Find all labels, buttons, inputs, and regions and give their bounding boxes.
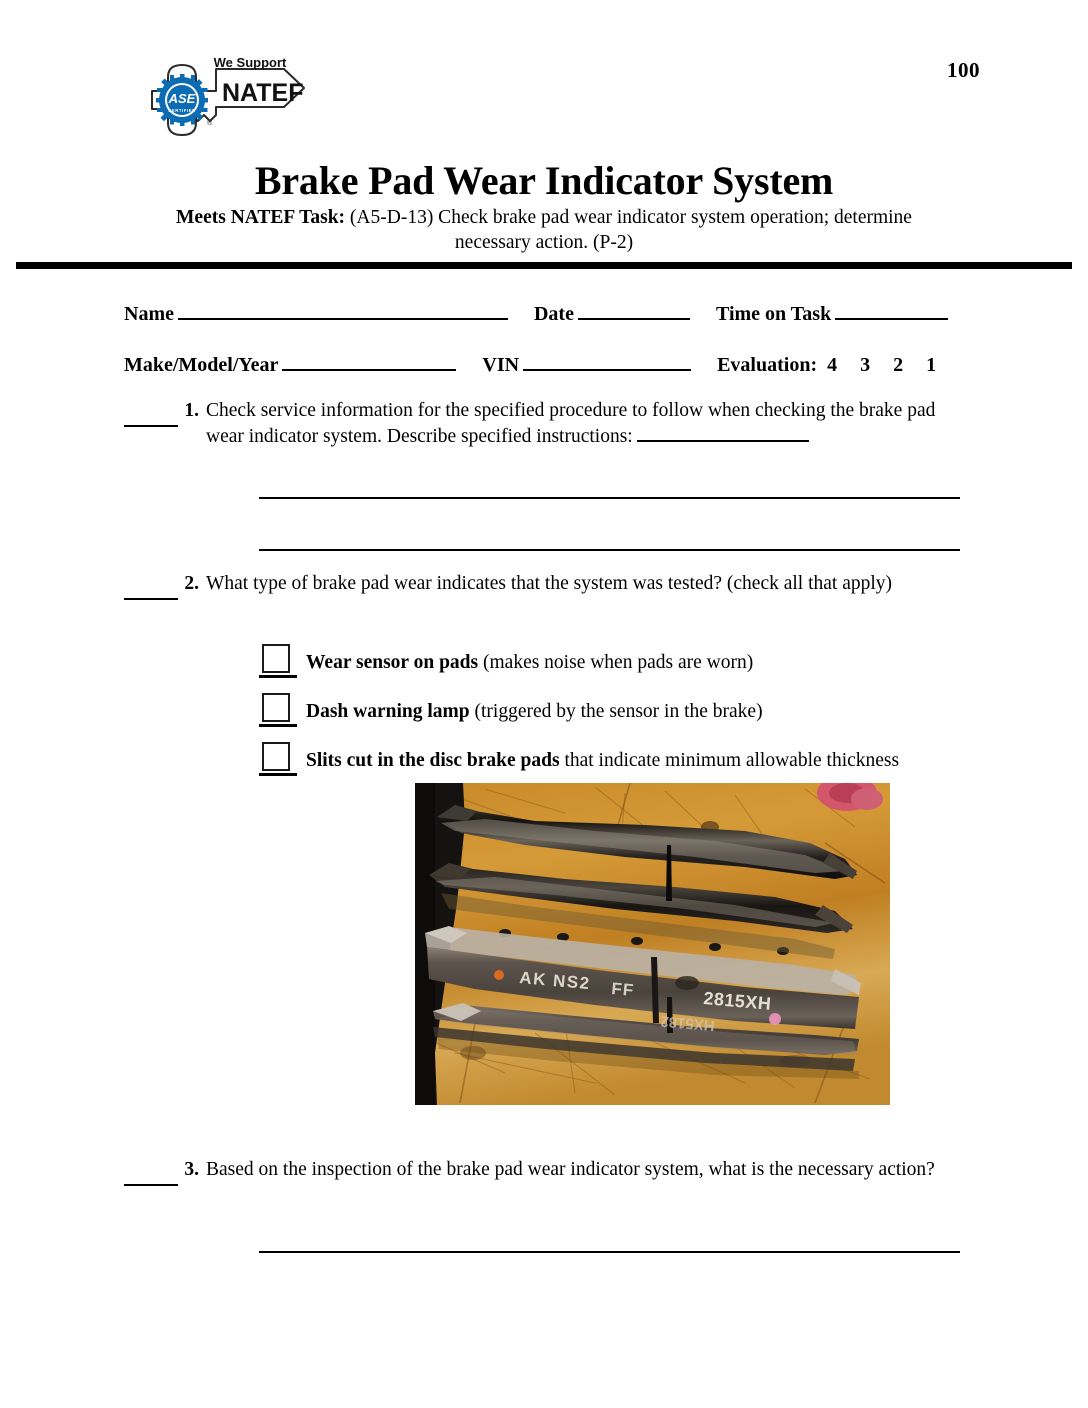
svg-text:®: ® xyxy=(207,119,213,127)
name-label: Name xyxy=(124,303,174,326)
svg-text:CERTIFIED: CERTIFIED xyxy=(168,108,196,113)
wear-indicator-slit xyxy=(666,845,672,901)
checkbox-dash-warning-lamp-wrap[interactable] xyxy=(259,693,297,731)
option-strong-text: Slits cut in the disc brake pads xyxy=(306,750,560,771)
form-row-vehicle: Make/Model/YearVINEvaluation:4 3 2 1 xyxy=(124,352,945,377)
photo-svg: AK NS2 FF 2815XH HX5182 xyxy=(415,783,890,1105)
svg-text:ASE: ASE xyxy=(168,91,196,106)
option-rest-text: that indicate minimum allowable thicknes… xyxy=(560,750,900,771)
question-2: 2.What type of brake pad wear indicates … xyxy=(124,571,962,600)
option-label-dash-warning-lamp: Dash warning lamp (triggered by the sens… xyxy=(306,700,763,724)
natef-task-subtitle: Meets NATEF Task: (A5-D-13) Check brake … xyxy=(154,205,934,255)
logo-natef-text: NATEF xyxy=(222,79,303,107)
option-row-wear-sensor[interactable]: Wear sensor on pads (makes noise when pa… xyxy=(259,638,999,687)
question-3-grade-blank[interactable] xyxy=(124,1169,178,1186)
question-2-option-list: Wear sensor on pads (makes noise when pa… xyxy=(259,638,999,785)
name-input[interactable] xyxy=(178,301,508,320)
make-model-year-input[interactable] xyxy=(282,352,456,371)
vin-label: VIN xyxy=(482,354,519,377)
option-strong-text: Dash warning lamp xyxy=(306,701,470,722)
page-number: 100 xyxy=(947,58,980,83)
ase-certified-badge-icon: ASE CERTIFIED xyxy=(156,74,208,126)
evaluation-label: Evaluation: xyxy=(717,354,817,377)
question-2-grade-blank[interactable] xyxy=(124,583,178,600)
question-3: 3.Based on the inspection of the brake p… xyxy=(124,1157,962,1186)
question-1-grade-blank[interactable] xyxy=(124,410,178,427)
date-label: Date xyxy=(534,303,574,326)
natef-task-label: Meets NATEF Task: xyxy=(176,207,345,228)
date-input[interactable] xyxy=(578,301,690,320)
time-on-task-input[interactable] xyxy=(835,301,948,320)
question-1-answer-line-1[interactable] xyxy=(259,497,960,499)
question-1-number: 1. xyxy=(178,398,206,424)
question-2-text: What type of brake pad wear indicates th… xyxy=(206,571,948,597)
page-title: Brake Pad Wear Indicator System xyxy=(0,157,1088,204)
logo-we-support-text: We Support xyxy=(214,55,287,70)
checkbox-wear-sensor-wrap[interactable] xyxy=(259,644,297,682)
form-row-identification: NameDateTime on Task xyxy=(124,301,952,326)
checkbox-underline xyxy=(259,773,297,776)
option-row-dash-warning-lamp[interactable]: Dash warning lamp (triggered by the sens… xyxy=(259,687,999,736)
option-rest-text: (makes noise when pads are worn) xyxy=(478,652,753,673)
checkbox-underline xyxy=(259,724,297,727)
question-1-prompt: Check service information for the specif… xyxy=(206,400,935,447)
checkbox-underline xyxy=(259,675,297,678)
option-row-slits-cut[interactable]: Slits cut in the disc brake pads that in… xyxy=(259,736,999,785)
brake-pads-photograph: AK NS2 FF 2815XH HX5182 xyxy=(415,783,890,1105)
option-strong-text: Wear sensor on pads xyxy=(306,652,478,673)
checkbox-dash-warning-lamp[interactable] xyxy=(262,693,290,722)
time-on-task-label: Time on Task xyxy=(716,303,831,326)
question-2-number: 2. xyxy=(178,571,206,597)
vin-input[interactable] xyxy=(523,352,691,371)
option-label-wear-sensor: Wear sensor on pads (makes noise when pa… xyxy=(306,651,753,675)
checkbox-slits-cut-wrap[interactable] xyxy=(259,742,297,780)
checkbox-slits-cut[interactable] xyxy=(262,742,290,771)
pad-marking-mid: FF xyxy=(611,979,635,1000)
make-model-year-label: Make/Model/Year xyxy=(124,354,278,377)
checkbox-wear-sensor[interactable] xyxy=(262,644,290,673)
question-3-answer-line-1[interactable] xyxy=(259,1251,960,1253)
option-label-slits-cut: Slits cut in the disc brake pads that in… xyxy=(306,749,899,773)
question-1: 1.Check service information for the spec… xyxy=(124,398,962,450)
header-divider-rule xyxy=(16,262,1072,269)
ase-natef-we-support-logo: ASE CERTIFIED We Support NATEF ® xyxy=(138,55,314,145)
natef-task-description: (A5-D-13) Check brake pad wear indicator… xyxy=(345,207,912,253)
question-1-text: Check service information for the specif… xyxy=(206,398,948,450)
evaluation-scores[interactable]: 4 3 2 1 xyxy=(827,354,945,376)
logo-svg: ASE CERTIFIED We Support NATEF ® xyxy=(138,55,314,145)
question-3-text: Based on the inspection of the brake pad… xyxy=(206,1157,948,1183)
question-1-inline-answer[interactable] xyxy=(637,424,809,442)
question-3-number: 3. xyxy=(178,1157,206,1183)
option-rest-text: (triggered by the sensor in the brake) xyxy=(470,701,763,722)
question-1-answer-line-2[interactable] xyxy=(259,549,960,551)
